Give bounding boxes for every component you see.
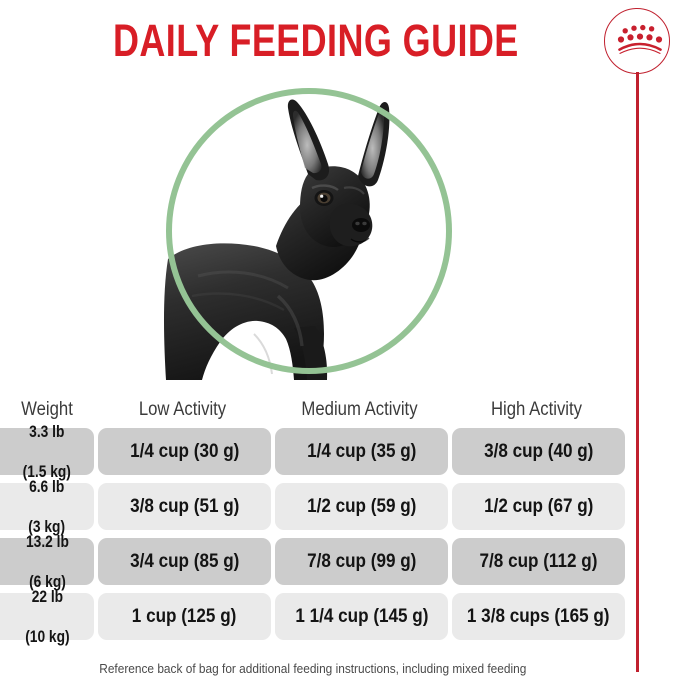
cell-weight: 6.6 lb(3 kg) [0, 483, 94, 530]
value-medium: 1/2 cup (59 g) [307, 497, 416, 517]
value-medium: 1/4 cup (35 g) [307, 442, 416, 462]
value-low: 3/4 cup (85 g) [130, 552, 239, 572]
table-row: 22 lb(10 kg) 1 cup (125 g) 1 1/4 cup (14… [0, 593, 625, 640]
table-row: 6.6 lb(3 kg) 3/8 cup (51 g) 1/2 cup (59 … [0, 483, 625, 530]
table-row: 3.3 lb(1.5 kg) 1/4 cup (30 g) 1/4 cup (3… [0, 428, 625, 475]
page-title: DAILY FEEDING GUIDE [113, 17, 519, 65]
weight-lb: 6.6 lb [29, 477, 66, 497]
green-circle-ring [166, 88, 452, 374]
column-header-high: High Activity [459, 399, 615, 421]
column-header-low: Low Activity [105, 399, 261, 421]
footer-note-text: Reference back of bag for additional fee… [99, 662, 526, 676]
cell-weight: 13.2 lb(6 kg) [0, 538, 94, 585]
cell-weight: 22 lb(10 kg) [0, 593, 94, 640]
value-high: 7/8 cup (112 g) [480, 552, 598, 572]
footer-note: Reference back of bag for additional fee… [0, 662, 625, 676]
value-medium: 7/8 cup (99 g) [307, 552, 416, 572]
cell-high-activity: 7/8 cup (112 g) [452, 538, 625, 585]
cell-high-activity: 1/2 cup (67 g) [452, 483, 625, 530]
column-header-weight: Weight [6, 399, 89, 421]
cell-high-activity: 1 3/8 cups (165 g) [452, 593, 625, 640]
weight-kg: (10 kg) [25, 627, 69, 647]
cell-medium-activity: 1/2 cup (59 g) [275, 483, 448, 530]
value-low: 1 cup (125 g) [132, 607, 237, 627]
right-red-rule [637, 72, 639, 672]
cell-low-activity: 3/4 cup (85 g) [98, 538, 271, 585]
hero-image-block [158, 84, 462, 386]
weight-lb: 3.3 lb [23, 422, 71, 442]
table-header-row: Weight Low Activity Medium Activity High… [0, 392, 625, 428]
column-header-medium: Medium Activity [282, 399, 438, 421]
value-high: 1/2 cup (67 g) [484, 497, 593, 517]
cell-low-activity: 1/4 cup (30 g) [98, 428, 271, 475]
cell-medium-activity: 7/8 cup (99 g) [275, 538, 448, 585]
cell-low-activity: 1 cup (125 g) [98, 593, 271, 640]
value-medium: 1 1/4 cup (145 g) [295, 607, 428, 627]
value-low: 3/8 cup (51 g) [130, 497, 239, 517]
cell-medium-activity: 1 1/4 cup (145 g) [275, 593, 448, 640]
cell-weight: 3.3 lb(1.5 kg) [0, 428, 94, 475]
feeding-guide-table: Weight Low Activity Medium Activity High… [0, 392, 625, 648]
table-row: 13.2 lb(6 kg) 3/4 cup (85 g) 7/8 cup (99… [0, 538, 625, 585]
cell-medium-activity: 1/4 cup (35 g) [275, 428, 448, 475]
value-high: 3/8 cup (40 g) [484, 442, 593, 462]
cell-low-activity: 3/8 cup (51 g) [98, 483, 271, 530]
value-high: 1 3/8 cups (165 g) [467, 607, 610, 627]
cell-high-activity: 3/8 cup (40 g) [452, 428, 625, 475]
value-low: 1/4 cup (30 g) [130, 442, 239, 462]
weight-lb: 22 lb [25, 587, 69, 607]
weight-lb: 13.2 lb [26, 532, 69, 552]
